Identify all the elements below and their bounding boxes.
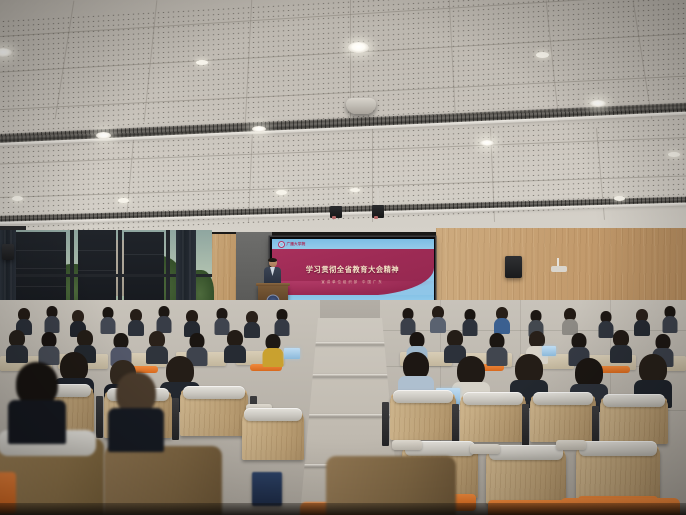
ceiling-speaker-dome	[346, 98, 376, 114]
attendee-foreground	[108, 372, 164, 446]
ceiling-downlight	[196, 60, 208, 65]
ceiling-downlight	[536, 52, 549, 58]
ceiling-downlight	[12, 196, 23, 201]
slide-logo: 广播大学院	[278, 241, 305, 248]
ceiling-downlight	[614, 196, 625, 201]
foreground-shadow	[0, 503, 686, 515]
auditorium-seat-empty[interactable]	[486, 452, 566, 504]
ceiling-downlight	[480, 140, 494, 146]
auditorium-seat[interactable]	[242, 414, 304, 460]
ceiling-downlight	[96, 132, 111, 139]
slide-title: 学习贯彻全省教育大会精神	[272, 265, 434, 275]
presentation-slide: 广播大学院 学习贯彻全省教育大会精神 宣讲单位组织部 中国广东 2024.11	[272, 239, 434, 306]
attendee	[156, 306, 171, 332]
window-blind[interactable]	[10, 232, 66, 308]
auditorium-seat-empty[interactable]	[576, 448, 660, 500]
window-blind[interactable]	[78, 230, 116, 304]
bag	[252, 472, 282, 506]
auditorium-seat[interactable]	[460, 398, 526, 442]
ceiling-downlight	[276, 190, 287, 195]
ceiling-downlight	[668, 152, 680, 157]
attendee	[662, 306, 677, 332]
seat-support	[382, 402, 389, 446]
window-blind[interactable]	[124, 232, 164, 304]
ceiling	[0, 0, 686, 232]
wall-speaker	[2, 244, 14, 260]
seat-armrest	[392, 440, 422, 450]
lecture-hall-photo: 广播大学院 学习贯彻全省教育大会精神 宣讲单位组织部 中国广东 2024.11	[0, 0, 686, 515]
projector-right	[372, 188, 384, 218]
attendee-foreground	[8, 362, 66, 438]
auditorium-seat[interactable]	[390, 396, 456, 440]
wall-speaker	[505, 256, 522, 278]
seat-support	[522, 404, 529, 448]
auditorium-seat[interactable]	[600, 400, 668, 444]
seat-armrest	[556, 440, 586, 450]
seat-support	[172, 398, 179, 440]
ceiling-downlight	[252, 126, 266, 132]
ceiling-downlight	[590, 100, 606, 107]
attendee	[430, 306, 446, 332]
projector-left	[330, 190, 342, 218]
ceiling-downlight	[118, 198, 129, 203]
projection-screen: 广播大学院 学习贯彻全省教育大会精神 宣讲单位组织部 中国广东 2024.11	[270, 237, 435, 307]
auditorium-seat[interactable]	[530, 398, 596, 442]
attendee	[44, 306, 59, 332]
school-crest-icon	[278, 241, 285, 248]
auditorium-seat[interactable]	[180, 392, 248, 436]
seat-armrest	[470, 444, 500, 454]
seat-support	[96, 396, 103, 438]
ceiling-downlight	[350, 188, 360, 192]
audience-near	[0, 352, 686, 515]
slide-logo-text: 广播大学院	[286, 242, 305, 247]
security-camera	[551, 258, 567, 272]
ceiling-downlight	[348, 42, 369, 53]
slide-subtitle: 宣讲单位组织部 中国广东	[272, 279, 434, 284]
